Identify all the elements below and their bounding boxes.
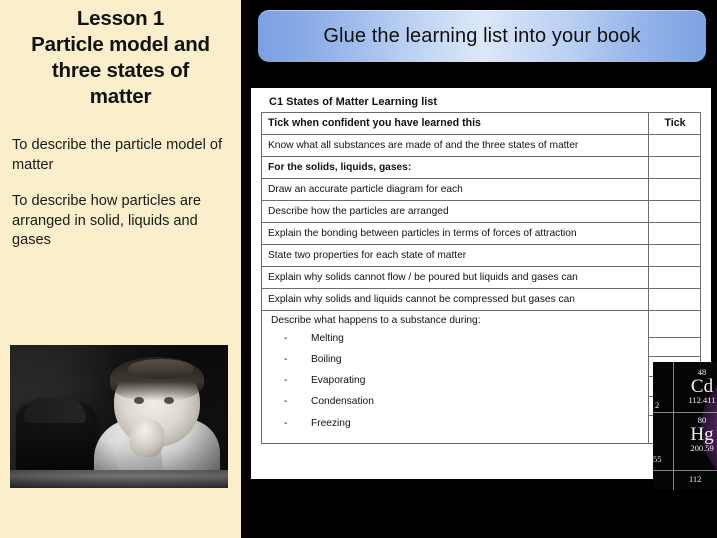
boy-photograph: [10, 345, 228, 488]
table-row: Explain why solids and liquids cannot be…: [262, 289, 701, 311]
tick-cell[interactable]: [649, 135, 701, 157]
right-slide-panel: Glue the learning list into your book C1…: [245, 0, 717, 538]
tick-cell[interactable]: [649, 338, 700, 358]
task-cell: Describe how the particles are arranged: [262, 201, 649, 223]
list-item: Condensation: [284, 396, 643, 408]
periodic-table-image: 48 Cd 112.411 49 In 114.818 50 Sn 118.71…: [653, 362, 717, 490]
table-row: Draw an accurate particle diagram for ea…: [262, 179, 701, 201]
objective-item: To describe how particles are arranged i…: [12, 192, 231, 251]
task-cell: State two properties for each state of m…: [262, 245, 649, 267]
column-header-tick: Tick: [649, 113, 701, 135]
state-change-list: Melting Boiling Evaporating Condensation…: [284, 333, 643, 430]
tick-cell[interactable]: [649, 157, 701, 179]
objective-item: To describe the particle model of matter: [12, 136, 231, 175]
table-row: Know what all substances are made of and…: [262, 135, 701, 157]
task-cell: Explain the bonding between particles in…: [262, 223, 649, 245]
left-content-panel: Lesson 1 Particle model and three states…: [0, 0, 241, 538]
list-item: Evaporating: [284, 375, 643, 387]
table-row: For the solids, liquids, gases:: [262, 157, 701, 179]
learning-list-table: Tick when confident you have learned thi…: [261, 112, 701, 444]
table-header-row: Tick when confident you have learned thi…: [262, 113, 701, 135]
photo-vignette: [10, 345, 228, 488]
instruction-banner-text: Glue the learning list into your book: [323, 25, 640, 48]
task-cell-with-sublist: Describe what happens to a substance dur…: [262, 311, 649, 444]
slide-canvas: Lesson 1 Particle model and three states…: [0, 0, 717, 538]
tick-cell[interactable]: [649, 267, 701, 289]
column-header-task: Tick when confident you have learned thi…: [262, 113, 649, 135]
lesson-title-line-4: matter: [8, 84, 233, 110]
tick-cell[interactable]: [649, 223, 701, 245]
learning-list-title: C1 States of Matter Learning list: [269, 96, 701, 108]
lesson-objectives: To describe the particle model of matter…: [12, 136, 231, 251]
bottom-number: 112: [689, 474, 701, 484]
list-item: Boiling: [284, 354, 643, 366]
instruction-banner: Glue the learning list into your book: [258, 10, 706, 62]
lesson-title-line-1: Lesson 1: [8, 6, 233, 32]
tick-cell[interactable]: [649, 201, 701, 223]
partial-mass-label: 2: [655, 400, 659, 410]
list-item: Freezing: [284, 418, 643, 430]
task-cell: Know what all substances are made of and…: [262, 135, 649, 157]
task-cell: Explain why solids and liquids cannot be…: [262, 289, 649, 311]
table-row: Describe how the particles are arranged: [262, 201, 701, 223]
table-row: Explain the bonding between particles in…: [262, 223, 701, 245]
task-cell: Explain why solids cannot flow / be pour…: [262, 267, 649, 289]
table-row: Explain why solids cannot flow / be pour…: [262, 267, 701, 289]
section-heading: Describe what happens to a substance dur…: [271, 315, 643, 327]
table-row: State two properties for each state of m…: [262, 245, 701, 267]
lesson-title-line-3: three states of: [8, 58, 233, 84]
tick-cell[interactable]: [649, 179, 701, 201]
page-title: Lesson 1 Particle model and three states…: [8, 6, 233, 110]
lesson-title-line-2: Particle model and: [8, 32, 233, 58]
tick-cell[interactable]: [649, 245, 701, 267]
task-cell: Draw an accurate particle diagram for ea…: [262, 179, 649, 201]
learning-list-sheet: C1 States of Matter Learning list Tick w…: [251, 88, 711, 479]
task-cell: For the solids, liquids, gases:: [262, 157, 649, 179]
tick-cell[interactable]: [649, 289, 701, 311]
partial-mass-label: 55: [653, 454, 662, 464]
grid-line: [653, 470, 717, 471]
tick-cell[interactable]: [649, 318, 700, 338]
list-item: Melting: [284, 333, 643, 345]
table-row-final-section: Describe what happens to a substance dur…: [262, 311, 701, 444]
